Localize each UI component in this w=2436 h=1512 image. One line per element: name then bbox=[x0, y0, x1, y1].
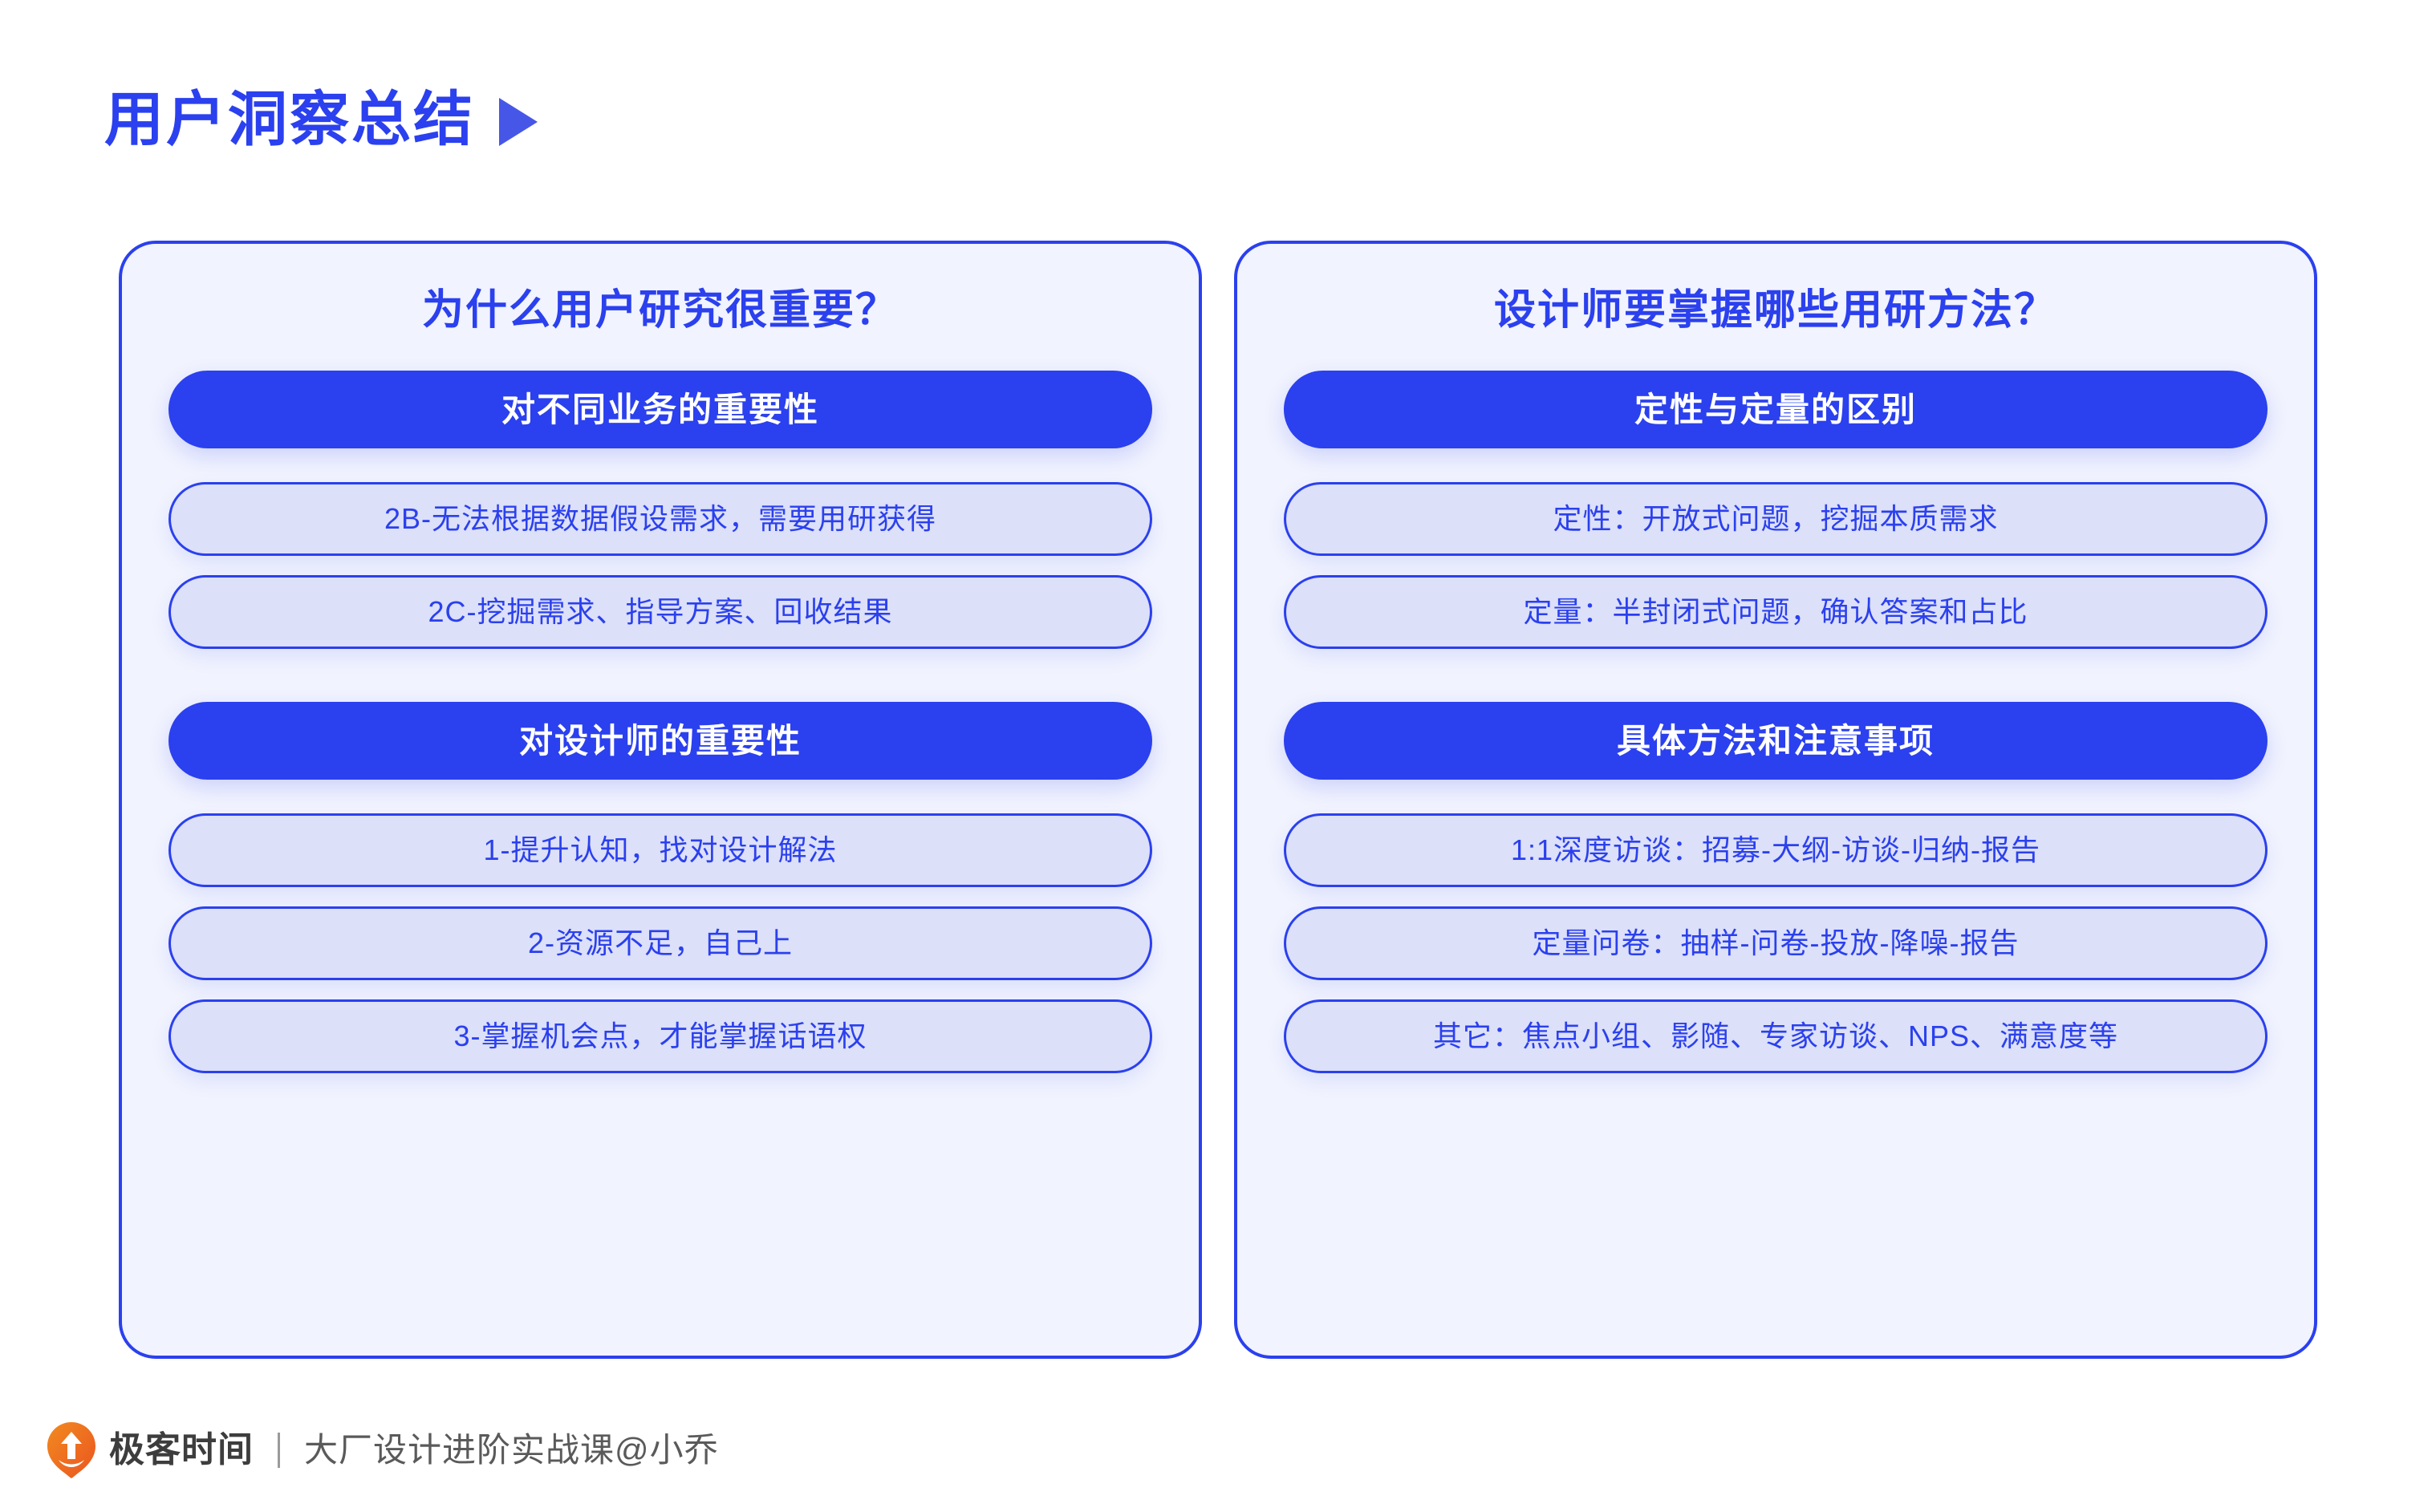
list-item[interactable]: 2-资源不足，自己上 bbox=[168, 906, 1152, 980]
list-item[interactable]: 定性：开放式问题，挖掘本质需求 bbox=[1284, 482, 2268, 556]
group-designer-importance: 对设计师的重要性 1-提升认知，找对设计解法 2-资源不足，自己上 3-掌握机会… bbox=[168, 702, 1152, 1073]
group-qualitative-quantitative: 定性与定量的区别 定性：开放式问题，挖掘本质需求 定量：半封闭式问题，确认答案和… bbox=[1284, 371, 2268, 649]
list-item[interactable]: 其它：焦点小组、影随、专家访谈、NPS、满意度等 bbox=[1284, 999, 2268, 1073]
slide-root: 用户洞察总结 为什么用户研究很重要？ 对不同业务的重要性 2B-无法根据数据假设… bbox=[0, 0, 2436, 1512]
list-item[interactable]: 定量：半封闭式问题，确认答案和占比 bbox=[1284, 575, 2268, 649]
spacer bbox=[1284, 780, 2268, 813]
list-item[interactable]: 1:1深度访谈：招募-大纲-访谈-归纳-报告 bbox=[1284, 813, 2268, 887]
group-header-pill[interactable]: 定性与定量的区别 bbox=[1284, 371, 2268, 448]
spacer bbox=[168, 780, 1152, 813]
card-title: 为什么用户研究很重要？ bbox=[168, 286, 1152, 335]
spacer bbox=[168, 887, 1152, 906]
card-title: 设计师要掌握哪些用研方法？ bbox=[1284, 286, 2268, 335]
group-header-pill[interactable]: 对设计师的重要性 bbox=[168, 702, 1152, 780]
spacer bbox=[1284, 980, 2268, 999]
list-item[interactable]: 2C-挖掘需求、指导方案、回收结果 bbox=[168, 575, 1152, 649]
group-header-pill[interactable]: 对不同业务的重要性 bbox=[168, 371, 1152, 448]
group-business-importance: 对不同业务的重要性 2B-无法根据数据假设需求，需要用研获得 2C-挖掘需求、指… bbox=[168, 371, 1152, 649]
card-why-user-research: 为什么用户研究很重要？ 对不同业务的重要性 2B-无法根据数据假设需求，需要用研… bbox=[119, 241, 1202, 1359]
list-item[interactable]: 定量问卷：抽样-问卷-投放-降噪-报告 bbox=[1284, 906, 2268, 980]
group-methods-and-notes: 具体方法和注意事项 1:1深度访谈：招募-大纲-访谈-归纳-报告 定量问卷：抽样… bbox=[1284, 702, 2268, 1073]
slide-title-row: 用户洞察总结 bbox=[104, 90, 538, 149]
brand-name: 极客时间 bbox=[109, 1433, 254, 1468]
spacer bbox=[1284, 556, 2268, 575]
play-triangle-icon bbox=[499, 98, 538, 146]
footer-branding: 极客时间 大厂设计进阶实战课@小乔 bbox=[47, 1421, 719, 1479]
list-item[interactable]: 1-提升认知，找对设计解法 bbox=[168, 813, 1152, 887]
spacer bbox=[168, 980, 1152, 999]
list-item[interactable]: 2B-无法根据数据假设需求，需要用研获得 bbox=[168, 482, 1152, 556]
footer-divider bbox=[278, 1433, 280, 1468]
list-item[interactable]: 3-掌握机会点，才能掌握话语权 bbox=[168, 999, 1152, 1073]
page-title: 用户洞察总结 bbox=[104, 90, 475, 149]
spacer bbox=[168, 556, 1152, 575]
spacer bbox=[168, 649, 1152, 702]
spacer bbox=[1284, 649, 2268, 702]
course-name: 大厂设计进阶实战课@小乔 bbox=[304, 1433, 719, 1467]
card-research-methods: 设计师要掌握哪些用研方法？ 定性与定量的区别 定性：开放式问题，挖掘本质需求 定… bbox=[1234, 241, 2317, 1359]
spacer bbox=[1284, 887, 2268, 906]
spacer bbox=[1284, 448, 2268, 482]
geekbang-logo-icon bbox=[47, 1421, 96, 1479]
cards-container: 为什么用户研究很重要？ 对不同业务的重要性 2B-无法根据数据假设需求，需要用研… bbox=[119, 241, 2317, 1359]
group-header-pill[interactable]: 具体方法和注意事项 bbox=[1284, 702, 2268, 780]
spacer bbox=[168, 448, 1152, 482]
